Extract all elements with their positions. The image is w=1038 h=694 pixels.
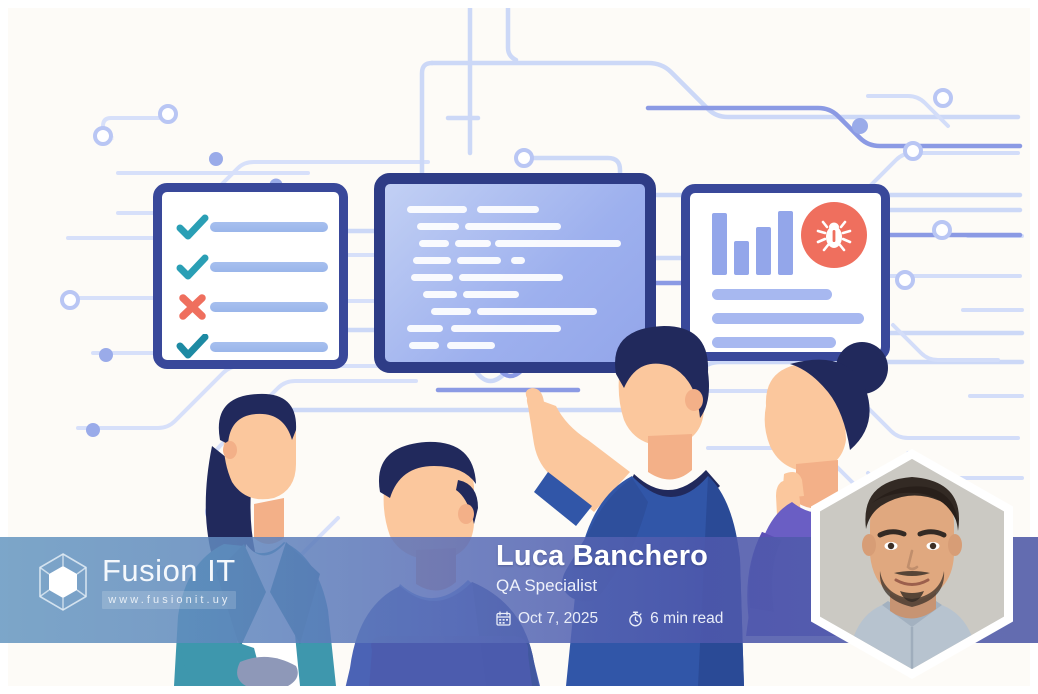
check-icon	[176, 214, 210, 240]
code-line	[477, 308, 597, 315]
code-line	[457, 257, 501, 264]
author-role: QA Specialist	[496, 576, 826, 596]
author-info: Luca Banchero QA Specialist Oct 7, 202	[496, 540, 826, 628]
publish-date-label: Oct 7, 2025	[518, 610, 598, 628]
calendar-icon	[496, 611, 511, 626]
code-line	[495, 240, 621, 247]
checklist-bar	[210, 342, 328, 352]
blog-cover-image: Fusion IT www.fusionit.uy Luca Banchero …	[0, 0, 1038, 694]
chart-bar	[756, 227, 771, 275]
cross-icon	[176, 294, 210, 320]
post-meta-row: Oct 7, 2025 6 min read	[496, 610, 826, 628]
author-name: Luca Banchero	[496, 540, 826, 572]
read-time-label: 6 min read	[650, 610, 723, 628]
check-icon	[176, 254, 210, 280]
checklist-bar	[210, 262, 328, 272]
checklist-card	[153, 183, 348, 369]
code-line	[455, 240, 491, 247]
code-line	[417, 223, 459, 230]
report-text-line	[712, 313, 864, 324]
read-time: 6 min read	[628, 610, 723, 628]
code-line	[511, 257, 525, 264]
code-line	[477, 206, 539, 213]
code-line	[409, 342, 439, 349]
code-line	[459, 274, 563, 281]
brand-url: www.fusionit.uy	[102, 591, 236, 609]
chart-bar	[778, 211, 793, 275]
brand-text: Fusion IT www.fusionit.uy	[102, 555, 236, 609]
chart-bar	[734, 241, 749, 275]
code-line	[465, 223, 561, 230]
code-line	[431, 308, 471, 315]
code-line	[447, 342, 495, 349]
checklist-row	[176, 254, 328, 280]
checklist-bar	[210, 302, 328, 312]
code-line	[419, 240, 449, 247]
brand-logo[interactable]: Fusion IT www.fusionit.uy	[36, 552, 236, 612]
bug-badge	[801, 202, 867, 268]
code-line	[413, 257, 451, 264]
hexagon-cube-icon	[36, 552, 90, 612]
brand-name: Fusion IT	[102, 555, 236, 586]
checklist-row	[176, 334, 328, 360]
chart-bar	[712, 213, 727, 275]
publish-date: Oct 7, 2025	[496, 610, 598, 628]
author-avatar[interactable]	[811, 449, 1013, 679]
report-text-line	[712, 289, 832, 300]
checklist-row	[176, 294, 328, 320]
code-line	[407, 325, 443, 332]
code-line	[411, 274, 453, 281]
code-line	[423, 291, 457, 298]
stopwatch-icon	[628, 611, 643, 627]
bug-icon	[815, 216, 853, 254]
bar-chart-icon	[712, 211, 802, 275]
checklist-bar	[210, 222, 328, 232]
check-icon	[176, 334, 210, 360]
code-line	[463, 291, 519, 298]
checklist-row	[176, 214, 328, 240]
code-line	[407, 206, 467, 213]
